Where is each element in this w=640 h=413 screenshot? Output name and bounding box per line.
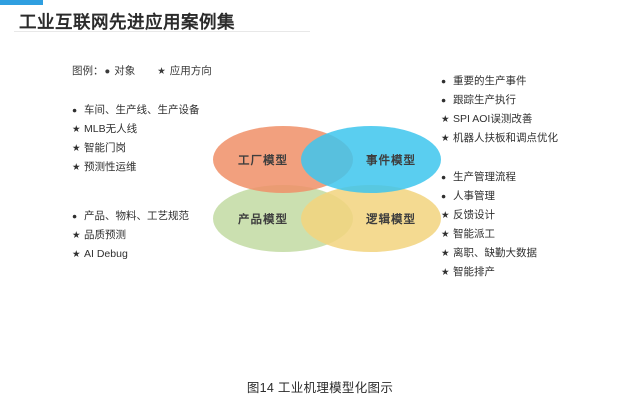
list-item-label: 跟踪生产执行 [453, 91, 516, 110]
venn-label-event-model: 事件模型 [321, 126, 461, 193]
list-item-label: 机器人扶板和调点优化 [453, 129, 558, 148]
list-left-top: ● 车间、生产线、生产设备 ★ MLB无人线 ★ 智能门岗 ★ 预测性运维 [72, 101, 200, 177]
legend-entry-object-label: 对象 [114, 63, 135, 78]
legend: 图例： ● 对象 ★ 应用方向 [72, 63, 212, 78]
star-icon: ★ [72, 139, 84, 158]
list-item: ● 重要的生产事件 [441, 72, 558, 91]
list-item: ● 产品、物料、工艺规范 [72, 207, 189, 226]
venn-ellipse-event-model: 事件模型 [301, 126, 441, 193]
list-item: ● 跟踪生产执行 [441, 91, 558, 110]
list-item-label: 离职、缺勤大数据 [453, 244, 537, 263]
legend-entry-application: ★ 应用方向 [157, 63, 212, 78]
dot-icon: ● [72, 207, 84, 226]
list-item-label: MLB无人线 [84, 120, 137, 139]
list-item-label: 预测性运维 [84, 158, 137, 177]
star-icon: ★ [72, 245, 84, 264]
list-item-label: AI Debug [84, 245, 128, 264]
list-left-bottom: ● 产品、物料、工艺规范 ★ 品质预测 ★ AI Debug [72, 207, 189, 264]
dot-icon: ● [105, 66, 111, 77]
venn-ellipse-logic-model: 逻辑模型 [301, 185, 441, 252]
accent-bar [0, 0, 43, 5]
dot-icon: ● [441, 91, 453, 110]
list-item-label: 产品、物料、工艺规范 [84, 207, 189, 226]
list-item-label: 生产管理流程 [453, 168, 516, 187]
list-item-label: 品质预测 [84, 226, 126, 245]
list-item: ★ 品质预测 [72, 226, 189, 245]
venn-diagram: 产品模型 逻辑模型 工厂模型 事件模型 [213, 126, 441, 252]
star-icon: ★ [72, 226, 84, 245]
list-item-label: 重要的生产事件 [453, 72, 527, 91]
list-item: ● 车间、生产线、生产设备 [72, 101, 200, 120]
star-icon: ★ [157, 66, 166, 77]
legend-label: 图例： [72, 63, 104, 78]
figure-caption: 图14 工业机理模型化图示 [0, 377, 640, 396]
list-item: ★ 预测性运维 [72, 158, 200, 177]
list-item: ★ MLB无人线 [72, 120, 200, 139]
list-item-label: SPI AOI误测改善 [453, 110, 532, 129]
list-item-label: 车间、生产线、生产设备 [84, 101, 200, 120]
dot-icon: ● [72, 101, 84, 120]
legend-entry-object: ● 对象 [105, 63, 136, 78]
title-divider [14, 31, 310, 32]
venn-label-logic-model: 逻辑模型 [321, 185, 461, 252]
legend-entry-application-label: 应用方向 [170, 63, 212, 78]
list-item-label: 智能门岗 [84, 139, 126, 158]
list-item: ★ 智能排产 [441, 263, 537, 282]
dot-icon: ● [441, 72, 453, 91]
star-icon: ★ [72, 120, 84, 139]
star-icon: ★ [441, 263, 453, 282]
list-item-label: 智能排产 [453, 263, 495, 282]
list-item: ★ AI Debug [72, 245, 189, 264]
list-item: ★ 智能门岗 [72, 139, 200, 158]
star-icon: ★ [72, 158, 84, 177]
